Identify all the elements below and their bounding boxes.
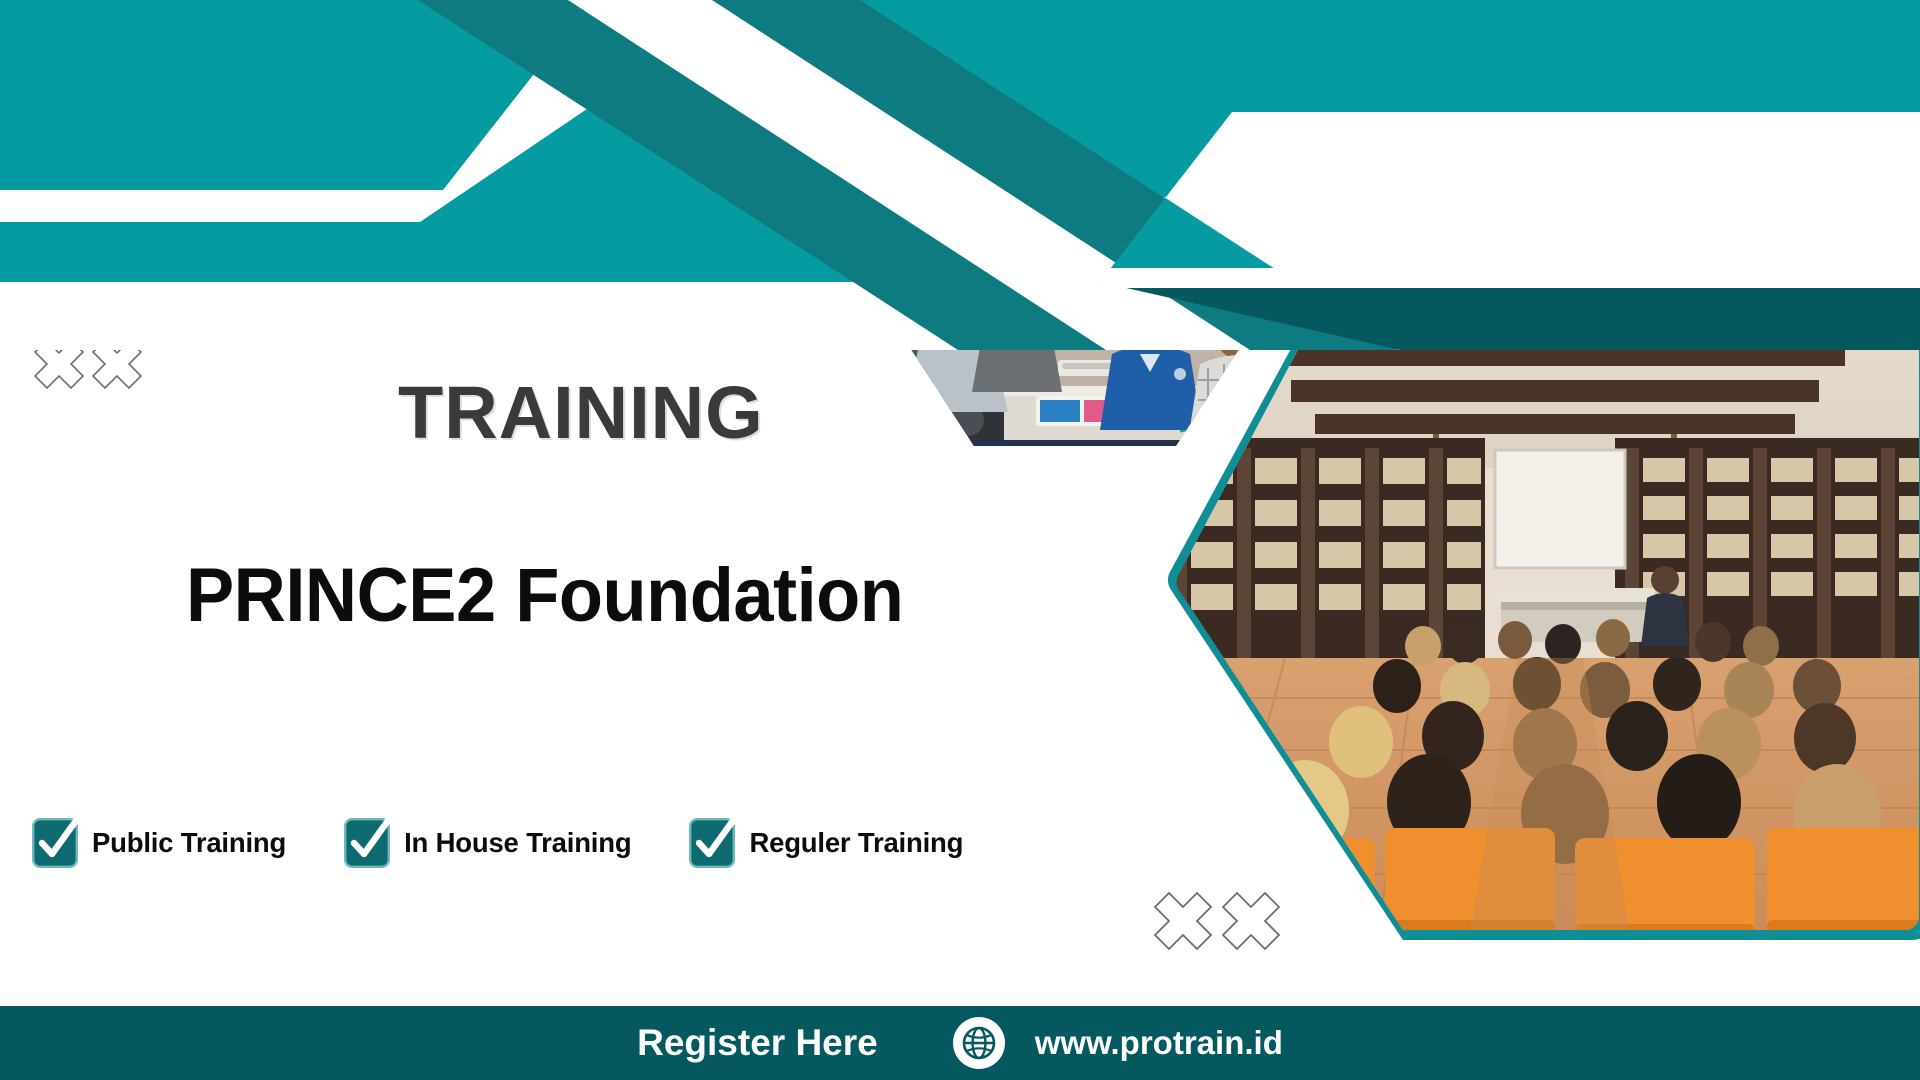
poster-canvas: PRO TRAIN IDN GROW YOUR SKILLS. GROW YOU… <box>0 0 1920 1080</box>
option-reguler-training[interactable]: Reguler Training <box>689 818 963 868</box>
globe-icon <box>953 1017 1005 1069</box>
option-public-training[interactable]: Public Training <box>32 818 286 868</box>
training-type-options: Public Training In House Training Regule… <box>32 818 963 868</box>
option-label: Reguler Training <box>749 827 963 859</box>
website-url[interactable]: www.protrain.id <box>1035 1024 1283 1062</box>
option-in-house-training[interactable]: In House Training <box>344 818 631 868</box>
page-title: PRINCE2 Foundation <box>186 558 903 634</box>
checkbox-checked-icon[interactable] <box>344 818 390 868</box>
footer-content: Register Here www.protrain.id <box>637 1017 1283 1069</box>
kicker-training: TRAINING <box>398 376 764 450</box>
checkbox-checked-icon[interactable] <box>689 818 735 868</box>
register-here-label[interactable]: Register Here <box>637 1022 878 1064</box>
option-label: Public Training <box>92 827 286 859</box>
top-banner-shapes <box>0 0 1920 340</box>
option-label: In House Training <box>404 827 631 859</box>
footer-bar: Register Here www.protrain.id <box>0 1006 1920 1080</box>
checkbox-checked-icon[interactable] <box>32 818 78 868</box>
